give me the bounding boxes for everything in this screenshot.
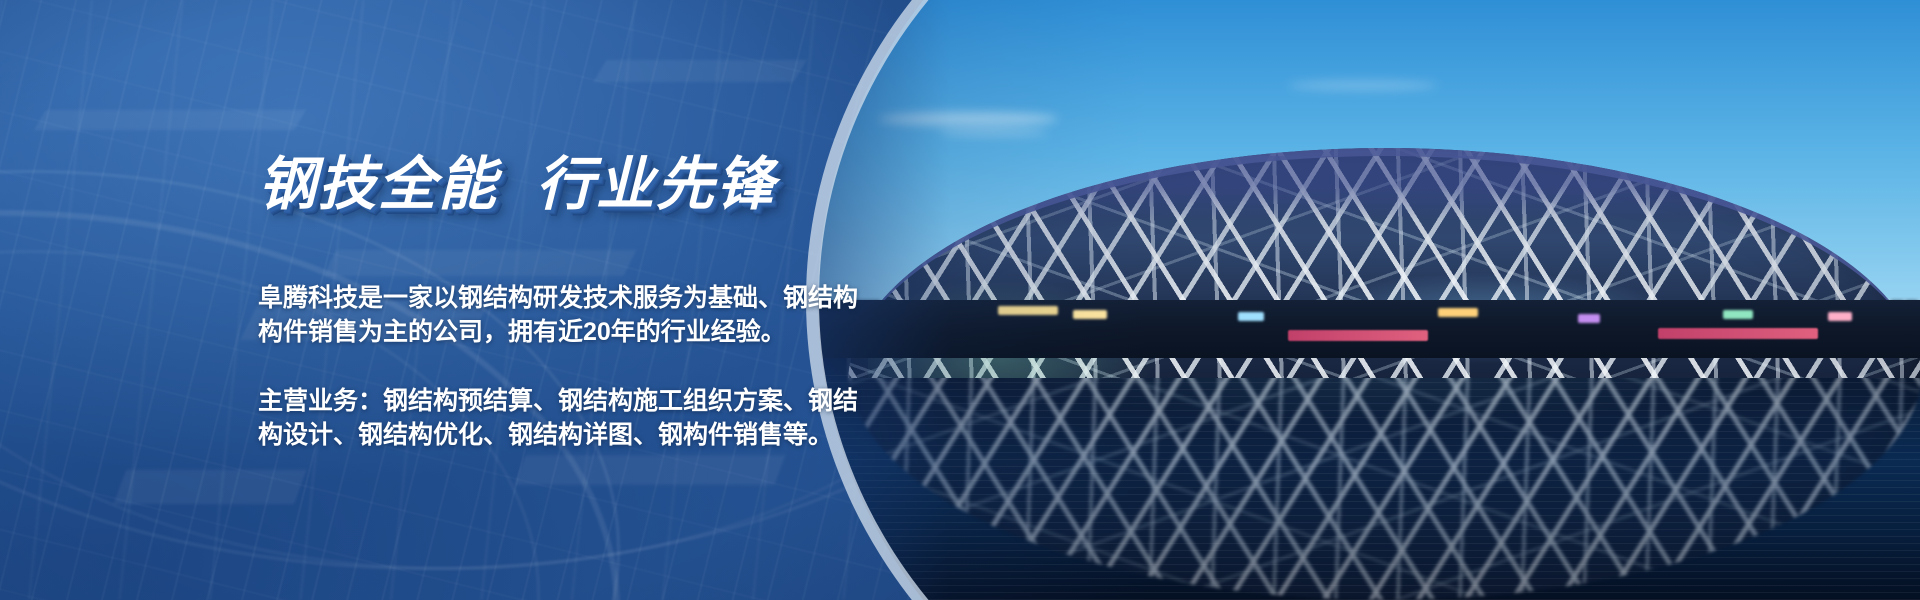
paragraph-line: 构件销售为主的公司，拥有近20年的行业经验。 [258, 315, 778, 349]
company-intro-paragraph: 阜腾科技是一家以钢结构研发技术服务为基础、钢结构 构件销售为主的公司，拥有近20… [258, 281, 778, 349]
stadium-photo-inner [818, 0, 1920, 600]
paragraph-line: 构设计、钢结构优化、钢结构详图、钢构件销售等。 [258, 418, 778, 452]
paragraph-line: 主营业务：钢结构预结算、钢结构施工组织方案、钢结 [258, 384, 778, 418]
headline-part-2: 行业先锋 [536, 152, 776, 217]
hero-banner: 钢技全能行业先锋 阜腾科技是一家以钢结构研发技术服务为基础、钢结构 构件销售为主… [0, 0, 1920, 600]
main-business-paragraph: 主营业务：钢结构预结算、钢结构施工组织方案、钢结 构设计、钢结构优化、钢结构详图… [258, 384, 778, 452]
page-title: 钢技全能行业先锋 [258, 150, 798, 220]
stadium-photo [818, 0, 1920, 600]
headline-part-1: 钢技全能 [258, 152, 498, 217]
banner-content: 钢技全能行业先锋 阜腾科技是一家以钢结构研发技术服务为基础、钢结构 构件销售为主… [0, 0, 820, 600]
photo-edge-shade [818, 0, 1920, 600]
paragraph-line: 阜腾科技是一家以钢结构研发技术服务为基础、钢结构 [258, 281, 778, 315]
